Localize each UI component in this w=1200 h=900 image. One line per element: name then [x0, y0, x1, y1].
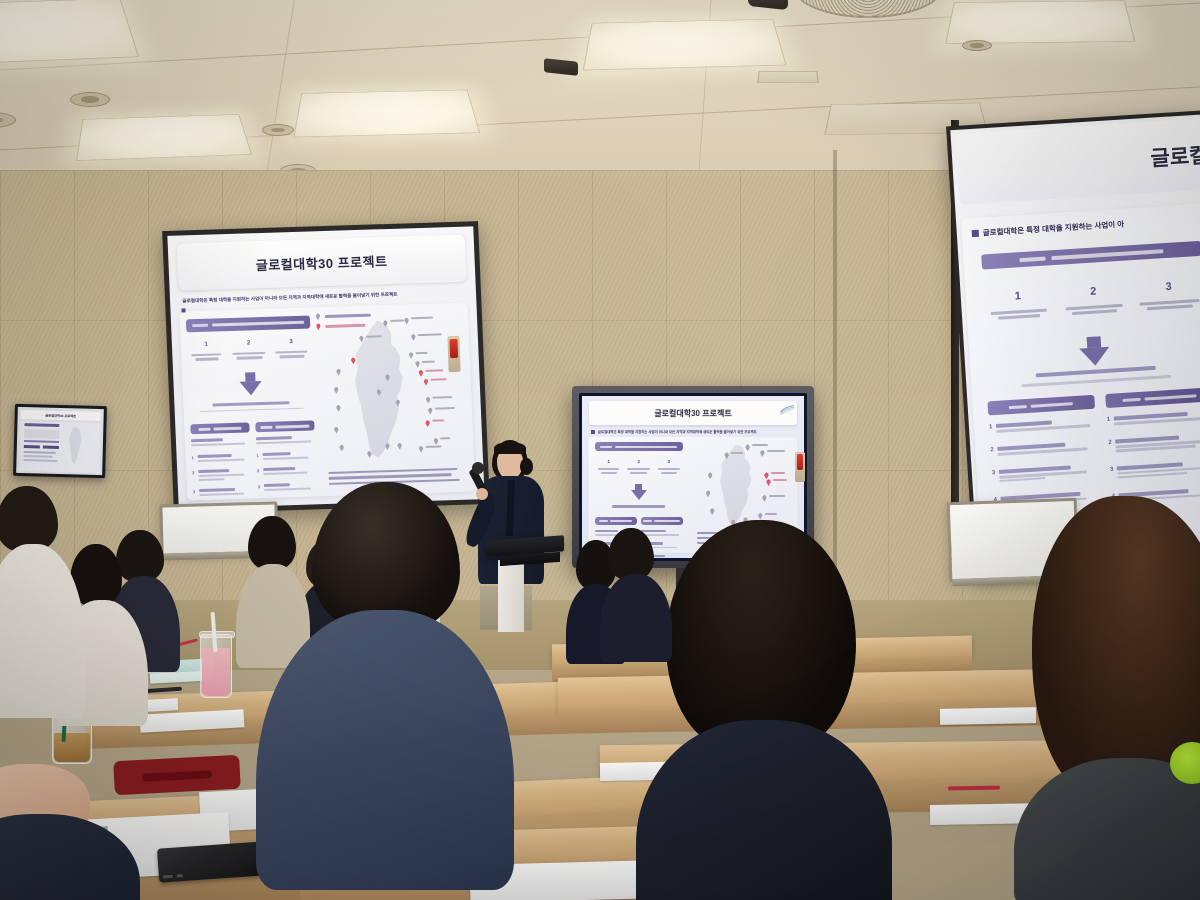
wall-monitor-title: 글로컬대학30 프로젝트 [45, 412, 76, 418]
pillar-column: 3 [1134, 279, 1200, 314]
ceiling-light-panel [945, 0, 1135, 44]
right-slide-title: 글로컬 [1150, 139, 1200, 173]
tv-slide-subtitle: 글로컬대학은 특정 대학을 지원하는 사업이 아니라 모든 지역과 지역대학에 … [598, 429, 757, 434]
pillar-column: 1 [187, 341, 227, 363]
ceiling-light-panel [76, 114, 252, 161]
audience-member-foreground [266, 482, 502, 882]
right-left-items: 1 2 3 4 [989, 418, 1101, 507]
right-flow-arrow [969, 329, 1200, 374]
right-vision-header-bar [981, 241, 1200, 270]
three-pillar-columns: 1 2 3 [187, 338, 312, 363]
ceiling-light-panel [583, 19, 787, 71]
torso [0, 814, 140, 900]
bullet-square-icon [591, 430, 595, 434]
flow-arrow [188, 370, 313, 397]
torso [636, 720, 892, 900]
hair [666, 520, 856, 750]
wall-seam [833, 150, 837, 570]
ceiling-speaker [748, 0, 788, 10]
ceiling-air-vent [792, 0, 944, 18]
fire-extinguisher-icon [447, 336, 460, 372]
presenter-hair-bun [520, 458, 533, 475]
slide-subtitle: 글로컬대학은 특정 대학을 지원하는 사업이 아니라 모든 지역과 지역대학에 … [182, 289, 464, 303]
left-item-list: 1 2 3 [191, 438, 252, 498]
presenter-hairline [494, 442, 526, 454]
audience-member [0, 486, 82, 716]
tv-slide-title: 글로컬대학30 프로젝트 [654, 408, 731, 419]
institution-logo-icon [779, 404, 795, 415]
pillar-column: 2 [1058, 283, 1129, 318]
map-legend [315, 312, 371, 338]
audience-member-foreground [636, 520, 900, 900]
vision-header-bar [186, 315, 310, 332]
ceiling-panel [757, 71, 818, 83]
right-three-pillars: 1 2 3 [983, 279, 1200, 323]
audience-member-foreground [1018, 496, 1200, 900]
ceiling-speaker [544, 58, 578, 76]
left-wall-monitor: 글로컬대학30 프로젝트 [13, 404, 107, 478]
right-slide-title-bar: 글로컬 [956, 118, 1200, 205]
sub-header-right [255, 421, 314, 433]
bullet-square-icon [181, 308, 185, 312]
ceiling-light-panel [293, 90, 480, 138]
sprinkler-head [0, 112, 16, 128]
torso [1014, 758, 1200, 900]
slide-body: 1 2 3 [180, 303, 475, 500]
right-sub-header-right [1105, 388, 1200, 409]
audience-member [600, 528, 670, 658]
slide-left-panel: 1 2 3 [186, 315, 317, 494]
slide-title: 글로컬대학30 프로젝트 [255, 251, 387, 274]
right-sub-header-left [987, 395, 1095, 416]
main-slide: 글로컬대학30 프로젝트 글로컬대학은 특정 대학을 지원하는 사업이 아니라 … [167, 226, 484, 508]
torso [256, 610, 514, 890]
microphone-head-icon [472, 462, 484, 474]
right-right-items: 1 2 3 4 [1107, 411, 1200, 504]
main-projection-screen: 글로컬대학30 프로젝트 글로컬대학은 특정 대학을 지원하는 사업이 아니라 … [162, 221, 490, 514]
audience-member-foreground [0, 744, 180, 900]
pillar-column: 2 [229, 340, 269, 362]
sprinkler-head [70, 92, 110, 107]
pillar-column: 1 [983, 288, 1054, 323]
sprinkler-head [262, 124, 294, 136]
sub-header-left [190, 423, 249, 435]
seminar-room-photo: 글로컬대학30 프로젝트 글로컬대학은 특정 대학을 지원하는 사업이 아니라 … [0, 0, 1200, 900]
bullet-square-icon [972, 230, 979, 237]
left-wall-monitor-screen: 글로컬대학30 프로젝트 [16, 407, 104, 475]
flow-label [213, 401, 290, 406]
slide-map-panel [312, 307, 472, 492]
fire-extinguisher-icon [795, 452, 805, 482]
south-korea-map [712, 444, 764, 527]
pillar-column: 3 [272, 338, 312, 360]
ceiling-light-panel [0, 0, 139, 65]
cup-lid [199, 631, 235, 638]
sprinkler-head [962, 40, 992, 51]
slide-title-bar: 글로컬대학30 프로젝트 [177, 235, 466, 290]
right-slide-subtitle: 글로컬대학은 특정 대학을 지원하는 사업이 아 [982, 219, 1124, 239]
